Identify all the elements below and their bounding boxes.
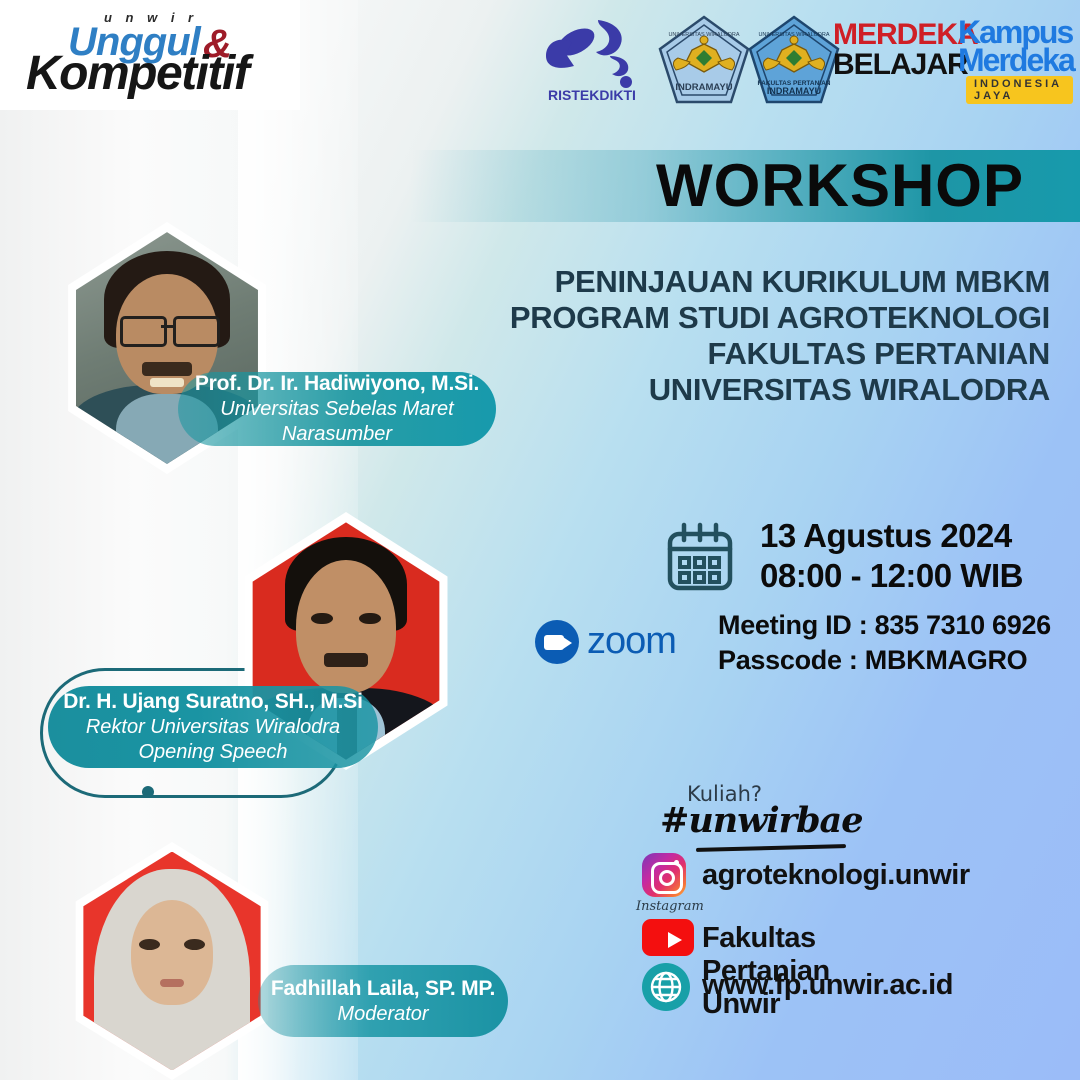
fakultas-pertanian-indramayu-seal-icon: FAKULTAS PERTANIAN INDRAMAYU UNIVERSITAS… xyxy=(746,14,842,106)
partner-logos-group: RISTEKDIKTI INDRAMAYU UNIVERSITAS WIRALO… xyxy=(528,6,1073,106)
speaker-label-1: Prof. Dr. Ir. Hadiwiyono, M.Si. Universi… xyxy=(178,372,496,446)
poster-canvas: u n w i r Unggul & Kompetitif RISTEKDIKT… xyxy=(0,0,1080,1080)
event-time: 08:00 - 12:00 WIB xyxy=(760,556,1023,596)
instagram-icon xyxy=(642,853,686,897)
speaker-label-2: Dr. H. Ujang Suratno, SH., M.Si Rektor U… xyxy=(48,686,378,768)
youtube-icon-play-triangle xyxy=(668,932,682,948)
ristekdikti-logo-icon: RISTEKDIKTI xyxy=(540,12,645,104)
event-datetime: 13 Agustus 2024 08:00 - 12:00 WIB xyxy=(760,516,1023,596)
title-line-3: FAKULTAS PERTANIAN xyxy=(450,336,1050,372)
instagram-icon-lens xyxy=(659,870,675,886)
header-bar: u n w i r Unggul & Kompetitif RISTEKDIKT… xyxy=(0,0,1080,110)
speaker-2-affiliation: Rektor Universitas Wiralodra xyxy=(48,715,378,740)
title-line-2: PROGRAM STUDI AGROTEKNOLOGI xyxy=(450,300,1050,336)
logo-kompetitif-word: Kompetitif xyxy=(26,46,248,101)
hashtag-tag-text: #unwirbae xyxy=(660,800,863,841)
svg-text:INDRAMAYU: INDRAMAYU xyxy=(767,86,821,96)
meeting-id: Meeting ID : 835 7310 6926 xyxy=(718,608,1051,643)
zoom-camera-body xyxy=(544,635,564,650)
speaker-1-name: Prof. Dr. Ir. Hadiwiyono, M.Si. xyxy=(178,371,496,397)
speaker-2-name: Dr. H. Ujang Suratno, SH., M.Si xyxy=(48,689,378,715)
meeting-passcode: Passcode : MBKMAGRO xyxy=(718,643,1051,678)
instagram-icon-dot xyxy=(674,860,679,865)
youtube-icon xyxy=(642,919,694,956)
svg-text:UNIVERSITAS WIRALODRA: UNIVERSITAS WIRALODRA xyxy=(668,32,739,38)
calendar-icon xyxy=(663,521,737,595)
zoom-credentials: Meeting ID : 835 7310 6926 Passcode : MB… xyxy=(718,608,1051,678)
speaker-1-role: Narasumber xyxy=(178,422,496,447)
speaker-3-role: Moderator xyxy=(258,1002,508,1027)
instagram-handle[interactable]: agroteknologi.unwir xyxy=(702,859,970,892)
speaker-1-affiliation: Universitas Sebelas Maret xyxy=(178,397,496,422)
title-line-1: PENINJAUAN KURIKULUM MBKM xyxy=(450,264,1050,300)
globe-icon xyxy=(642,963,690,1011)
speaker-2-decor-dot xyxy=(142,786,154,798)
universitas-wiralodra-indramayu-seal-icon: INDRAMAYU UNIVERSITAS WIRALODRA xyxy=(656,14,752,106)
svg-text:INDRAMAYU: INDRAMAYU xyxy=(675,82,732,93)
svg-text:UNIVERSITAS WIRALODRA: UNIVERSITAS WIRALODRA xyxy=(758,32,829,38)
title-line-4: UNIVERSITAS WIRALODRA xyxy=(450,372,1050,408)
zoom-logo: zoom xyxy=(535,612,695,670)
speaker-2-role: Opening Speech xyxy=(48,740,378,765)
speaker-photo-3-image xyxy=(69,852,275,1071)
speaker-label-3: Fadhillah Laila, SP. MP. Moderator xyxy=(258,965,508,1037)
instagram-wordmark: Instagram xyxy=(636,899,704,914)
unwirbae-hashtag-logo: Kuliah? #unwirbae xyxy=(660,784,890,854)
hashtag-underline-swoosh xyxy=(696,844,846,852)
merdeka-belajar-kampus-merdeka-logo: MERDEKA BELAJAR Kampus Merdeka INDONESIA… xyxy=(833,16,1073,96)
website-url[interactable]: www.fp.unwir.ac.id xyxy=(702,969,953,1002)
zoom-camera-icon xyxy=(535,620,579,664)
zoom-wordmark: zoom xyxy=(587,620,676,663)
merdeka-word: MERDEKA xyxy=(833,18,978,52)
zoom-camera-lens xyxy=(563,637,572,649)
merdeka-word-2: Merdeka xyxy=(958,42,1074,79)
ristekdikti-label: RISTEKDIKTI xyxy=(548,87,636,103)
event-date: 13 Agustus 2024 xyxy=(760,516,1023,556)
belajar-word: BELAJAR xyxy=(833,48,968,82)
event-title: PENINJAUAN KURIKULUM MBKM PROGRAM STUDI … xyxy=(450,264,1050,408)
speaker-3-name: Fadhillah Laila, SP. MP. xyxy=(258,976,508,1002)
speaker-photo-3 xyxy=(60,842,284,1080)
indonesia-jaya-badge: INDONESIA JAYA xyxy=(966,76,1073,104)
workshop-heading: WORKSHOP xyxy=(656,152,1024,220)
unwir-tagline-logo: u n w i r Unggul & Kompetitif xyxy=(18,8,286,100)
